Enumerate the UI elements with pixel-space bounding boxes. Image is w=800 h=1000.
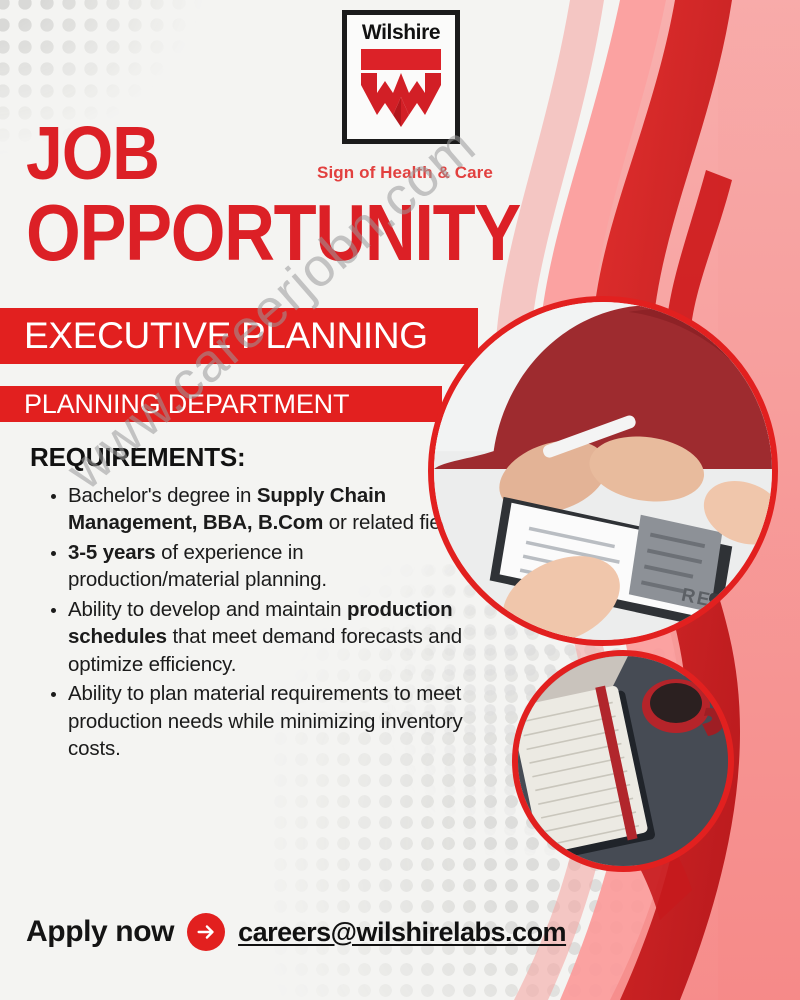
interview-resume-photo: RESUME	[428, 296, 778, 646]
arrow-right-icon[interactable]	[187, 913, 225, 951]
requirement-item: Bachelor's degree in Supply Chain Manage…	[68, 482, 480, 537]
requirement-item: 3-5 years of experience in production/ma…	[68, 539, 480, 594]
requirements-heading: REQUIREMENTS:	[30, 442, 246, 473]
headline-job: JOB	[26, 123, 159, 185]
wilshire-w-shield-icon	[359, 71, 443, 129]
brand-tagline: Sign of Health & Care	[275, 163, 535, 183]
company-logo: Wilshire	[342, 10, 460, 144]
notebook-coffee-photo	[512, 650, 734, 872]
logo-company-name: Wilshire	[362, 22, 440, 43]
requirement-item: Ability to develop and maintain producti…	[68, 596, 480, 678]
department-name: PLANNING DEPARTMENT	[24, 389, 349, 420]
position-title-bar: EXECUTIVE PLANNING	[0, 308, 478, 364]
job-poster: Wilshire Sign of Health & Care JOB OPPOR…	[0, 0, 800, 1000]
requirement-item: Ability to plan material requirements to…	[68, 680, 480, 762]
apply-email-link[interactable]: careers@wilshirelabs.com	[238, 917, 566, 948]
department-bar: PLANNING DEPARTMENT	[0, 386, 442, 422]
headline-opportunity: OPPORTUNITY	[26, 198, 520, 268]
position-title: EXECUTIVE PLANNING	[24, 315, 428, 357]
logo-red-bar	[361, 49, 441, 70]
requirements-list: Bachelor's degree in Supply Chain Manage…	[40, 482, 480, 765]
apply-label: Apply now	[26, 915, 174, 949]
apply-row: Apply now careers@wilshirelabs.com	[26, 913, 566, 951]
